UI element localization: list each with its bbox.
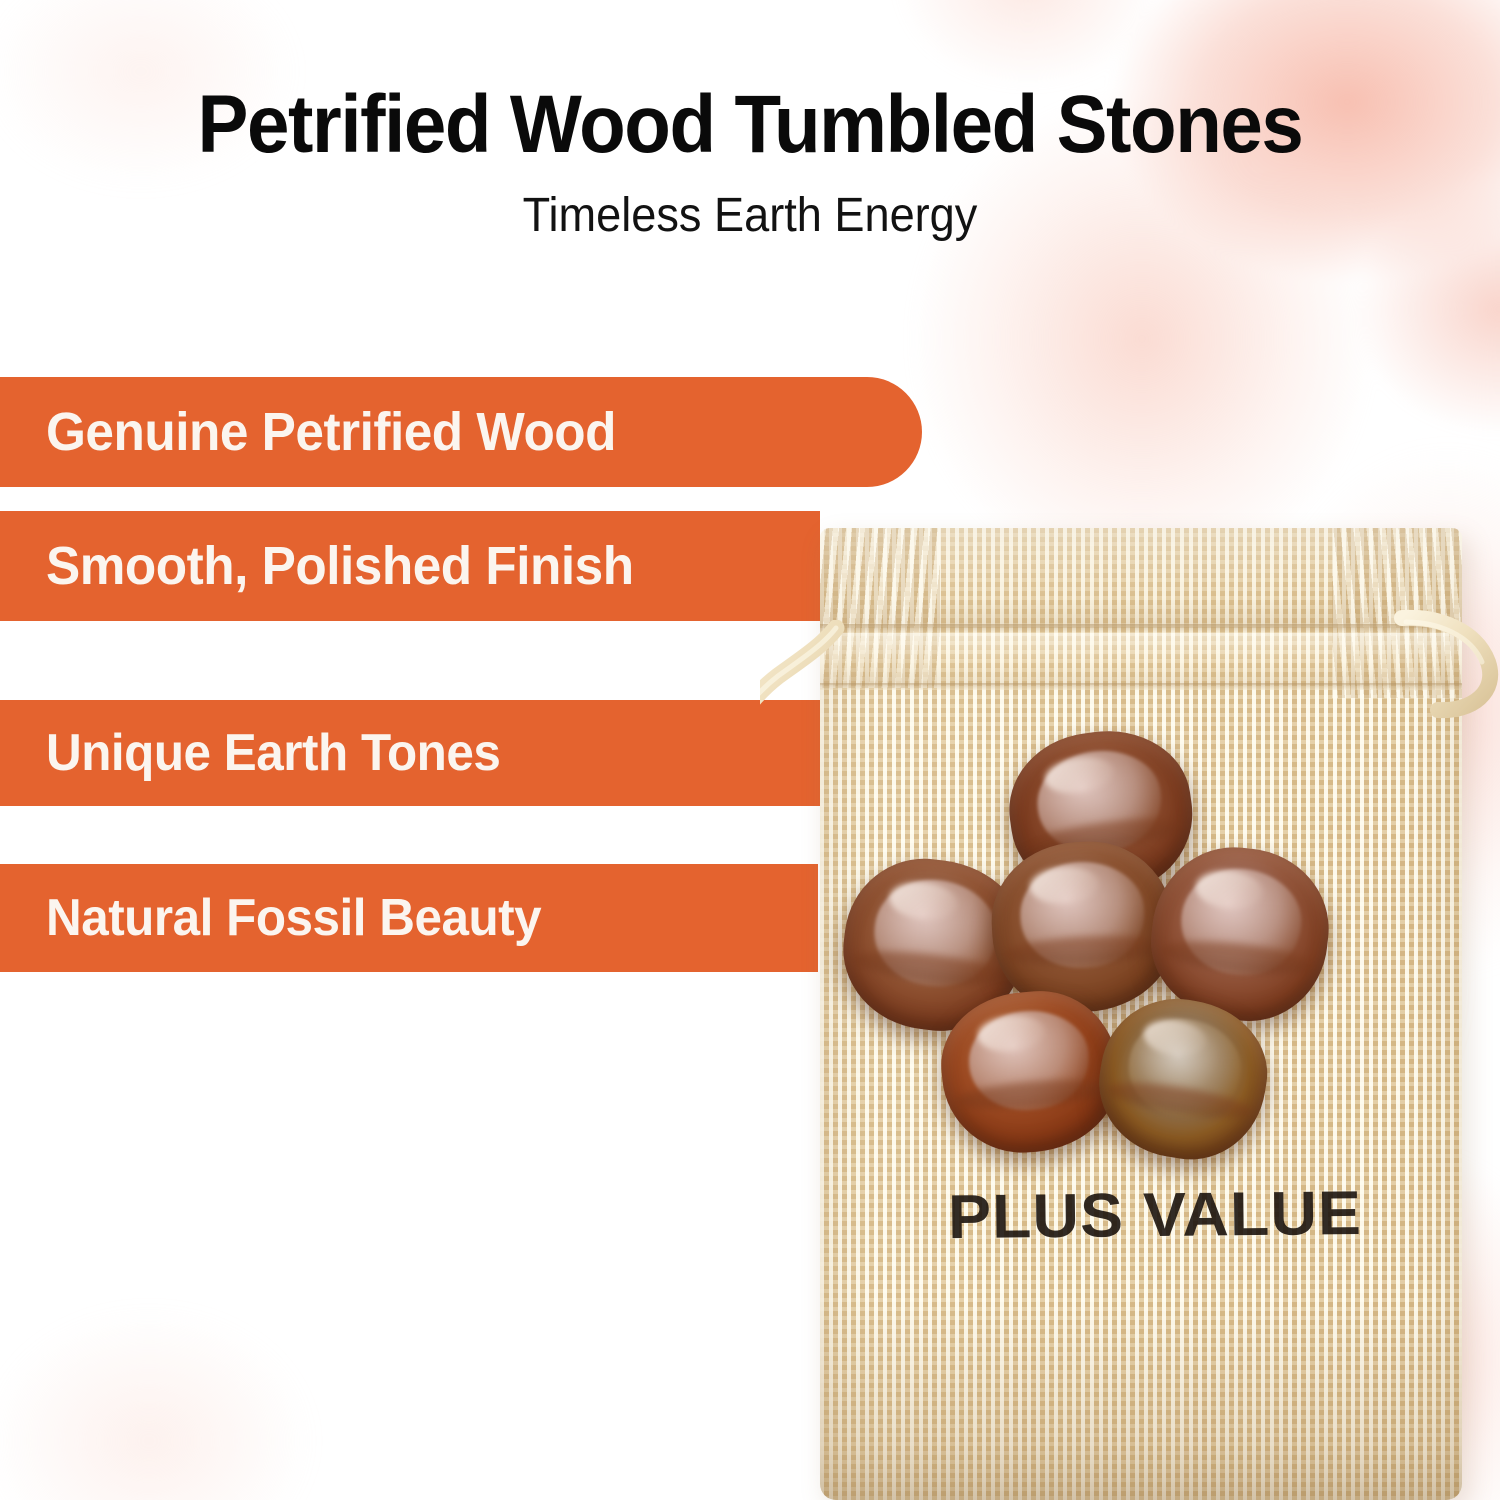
page-title: Petrified Wood Tumbled Stones [53,84,1448,166]
product-infographic-canvas: Petrified Wood Tumbled Stones Timeless E… [0,0,1500,1500]
feature-bar-unique-earth-tones: Unique Earth Tones [0,700,820,806]
bag-bottom-shadow [820,1300,1462,1500]
feature-bar-smooth-polished-finish: Smooth, Polished Finish [0,511,820,621]
bag-drawstring-channel [820,633,1462,685]
feature-bar-natural-fossil-beauty: Natural Fossil Beauty [0,864,818,972]
feature-bar-label: Genuine Petrified Wood [46,401,616,463]
bag-drawstring-seam-upper [820,624,1462,633]
bag-drawstring-seam-lower [820,683,1462,690]
feature-bar-label: Unique Earth Tones [46,723,500,783]
product-photo: PLUS VALUE [760,470,1500,1500]
watercolor-wash-bottom-left [0,1270,380,1500]
bag-brand-stamp: PLUS VALUE [936,1178,1374,1253]
feature-bar-label: Natural Fossil Beauty [46,888,541,948]
feature-bar-label: Smooth, Polished Finish [46,535,634,597]
headline-block: Petrified Wood Tumbled Stones Timeless E… [0,84,1500,240]
page-subtitle: Timeless Earth Energy [45,192,1455,240]
